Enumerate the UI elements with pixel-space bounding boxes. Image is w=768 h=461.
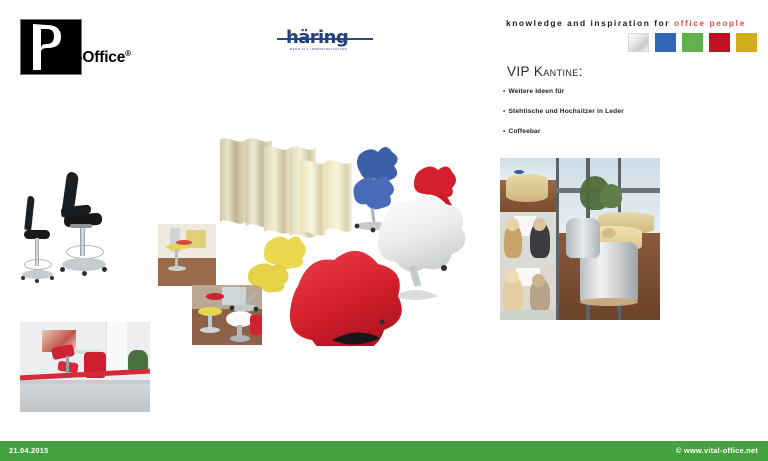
bullet-text: Weitere Ideen für — [508, 88, 564, 95]
collage-thumb — [500, 266, 556, 320]
header-tagline: knowledge and inspiration for office peo… — [506, 18, 746, 28]
list-item: •Coffeebar — [503, 128, 753, 135]
swatch-blue — [655, 33, 676, 52]
saddle-chair-yellow — [264, 236, 306, 269]
high-chairs-image — [12, 166, 116, 294]
list-item: •Weitere Ideen für — [503, 88, 753, 95]
swatch-gold — [736, 33, 757, 52]
photo-collage — [500, 158, 660, 320]
clover-table-white — [378, 194, 465, 271]
footer-bar: 21.04.2015 © www.vital-office.net — [0, 441, 768, 461]
collage-thumb — [500, 212, 556, 266]
swatch-green — [682, 33, 703, 52]
clover-table-red — [290, 251, 402, 346]
swatch-silver — [628, 33, 649, 52]
collage-main-photo — [556, 158, 660, 320]
logo-wordmark: Vital-Office® — [46, 49, 131, 67]
bullet-text: Stehtische und Hochsitzer in Leder — [508, 108, 623, 115]
footer-date: 21.04.2015 — [9, 446, 49, 455]
panel-title: VIP Kantine: — [507, 64, 583, 79]
tagline-main: knowledge and inspiration for — [506, 18, 670, 28]
haering-logo: häring MEHR ALS INNENEINRICHTUNG — [277, 28, 373, 54]
color-swatch-row — [628, 33, 757, 52]
saddle-chair-red — [414, 166, 456, 199]
haering-wordmark: häring — [286, 28, 348, 47]
bullet-text: Coffeebar — [508, 128, 540, 135]
collage-thumb — [500, 158, 556, 212]
office-interior-photo — [20, 322, 150, 412]
standing-table-photo-a — [158, 224, 216, 286]
product-montage — [212, 126, 470, 346]
swatch-red — [709, 33, 730, 52]
bullet-list: •Weitere Ideen für •Stehtische und Hochs… — [503, 88, 753, 148]
tagline-accent: office people — [674, 18, 746, 28]
saddle-chair-blue — [357, 147, 398, 183]
wave-screens-graphic — [212, 126, 470, 346]
vital-office-logo: Vital-Office® — [20, 19, 116, 75]
list-item: •Stehtische und Hochsitzer in Leder — [503, 108, 753, 115]
haering-subtitle: MEHR ALS INNENEINRICHTUNG — [290, 48, 348, 51]
presentation-slide: Vital-Office® häring MEHR ALS INNENEINRI… — [0, 0, 768, 461]
footer-url[interactable]: © www.vital-office.net — [676, 446, 758, 455]
